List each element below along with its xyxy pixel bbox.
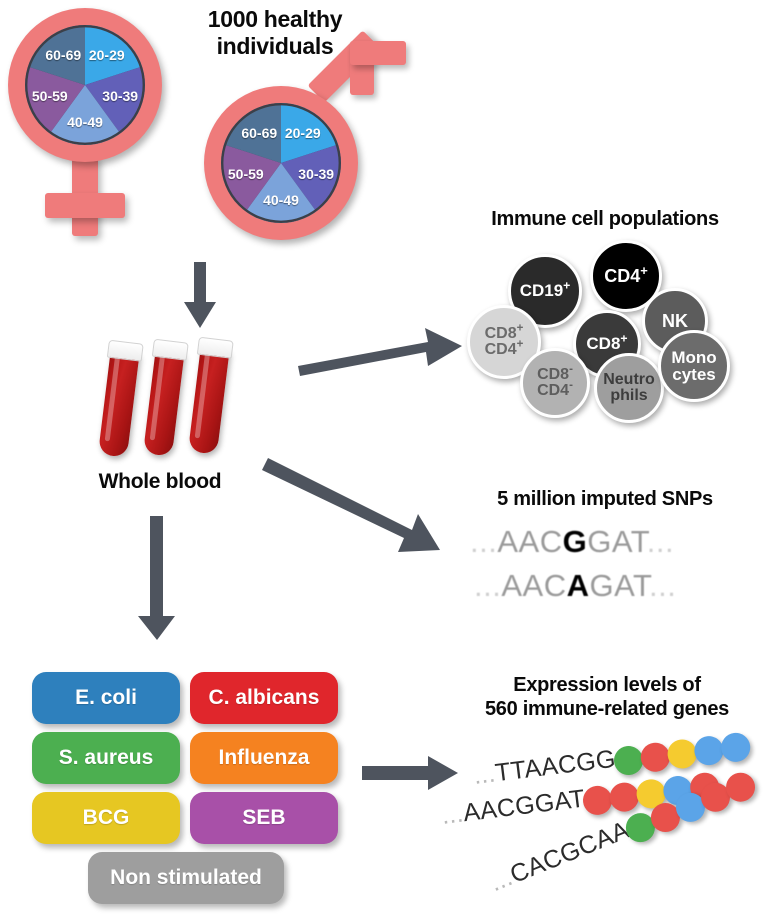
snp-variant-base: G <box>563 524 588 559</box>
snp-bases-after: GAT <box>589 568 649 603</box>
male-symbol-arrowhead-side <box>350 41 406 65</box>
immune-cell-label: CD8-CD4- <box>537 367 573 400</box>
gene-strand-group: ...TTAACGG...AACGGAT...CACGCAA <box>440 740 771 920</box>
snp-bases-before: AAC <box>501 568 566 603</box>
female-age-pie: 20-2930-3940-4950-5960-69 <box>25 25 145 145</box>
stimulus-label: BCG <box>83 806 130 830</box>
male-age-pie-slices <box>221 103 341 223</box>
immune-cell-label: CD8+CD4+ <box>485 326 524 359</box>
female-symbol-crossbar <box>45 193 125 218</box>
whole-blood-label: Whole blood <box>55 470 265 495</box>
gene-strand-ellipsis: ... <box>440 799 465 829</box>
immune-cell-nk: NK <box>642 288 708 354</box>
stimulus-label: C. albicans <box>209 686 320 710</box>
gene-strand-bead <box>608 781 640 813</box>
stimulus-pill[interactable]: BCG <box>32 792 180 844</box>
immune-cell-label: CD8+ <box>586 335 627 352</box>
arrow-blood-to-immune <box>296 320 466 380</box>
immune-cell-neutro: Neutrophils <box>594 353 664 423</box>
expression-title-line2: 560 immune-related genes <box>448 698 766 722</box>
immune-section-title: Immune cell populations <box>450 208 760 232</box>
stimulus-label: S. aureus <box>59 746 154 770</box>
stimulus-label: Influenza <box>218 746 309 770</box>
expression-title-line1: Expression levels of <box>448 674 766 698</box>
gene-strand-bead <box>639 741 671 773</box>
snp-bases-after: GAT <box>587 524 647 559</box>
snp-ellipsis-left: ... <box>474 568 501 603</box>
stimulus-pill[interactable]: E. coli <box>32 672 180 724</box>
immune-cell-cd8: CD8+ <box>573 310 641 378</box>
immune-cell-label: Neutrophils <box>603 372 655 405</box>
arrow-blood-to-snps <box>262 452 452 572</box>
snp-ellipsis-right: ... <box>647 524 674 559</box>
snp-ellipsis-right: ... <box>649 568 676 603</box>
immune-cell-cd4: CD4+ <box>590 240 662 312</box>
stimulus-pill[interactable]: Non stimulated <box>88 852 284 904</box>
gene-strand-bead <box>719 732 751 764</box>
immune-cell-cd19: CD19+ <box>508 254 582 328</box>
gene-strand-sequence: ...CACGCAA <box>486 816 633 897</box>
male-age-pie: 20-2930-3940-4950-5960-69 <box>221 103 341 223</box>
gene-strand-sequence: ...AACGGAT <box>440 785 587 830</box>
stimulus-pill[interactable]: S. aureus <box>32 732 180 784</box>
snp-variant-base: A <box>567 568 590 603</box>
arrow-individuals-to-blood <box>178 262 222 330</box>
snp-ellipsis-left: ... <box>470 524 497 559</box>
stimulus-pill[interactable]: C. albicans <box>190 672 338 724</box>
snp-bases-before: AAC <box>497 524 562 559</box>
immune-cell-cd8cd4pp: CD8+CD4+ <box>467 305 541 379</box>
stimulus-pill[interactable]: Influenza <box>190 732 338 784</box>
immune-cell-label: CD19+ <box>520 282 571 299</box>
expression-section-title: Expression levels of 560 immune-related … <box>448 674 766 721</box>
stimulus-label: SEB <box>242 806 285 830</box>
female-age-pie-slices <box>25 25 145 145</box>
gene-strand-ellipsis: ... <box>486 863 517 897</box>
immune-cell-cd8cd4mm: CD8-CD4- <box>520 348 590 418</box>
snp-sequence-row: ...AACGGAT... <box>470 524 674 560</box>
immune-cell-label: CD4+ <box>604 267 648 285</box>
immune-cell-label: Monocytes <box>671 349 716 384</box>
stimulus-label: E. coli <box>75 686 137 710</box>
immune-cell-label: NK <box>662 312 688 330</box>
diagram-canvas: 1000 healthy individuals 20-2930-3940-49… <box>0 0 771 922</box>
gene-strand-ellipsis: ... <box>472 759 497 789</box>
snp-sequence-block: ...AACGGAT......AACAGAT... <box>470 524 750 620</box>
gene-strand-bead <box>693 735 725 767</box>
stimulus-label: Non stimulated <box>110 866 262 890</box>
immune-cell-mono: Monocytes <box>658 330 730 402</box>
stimulus-pill[interactable]: SEB <box>190 792 338 844</box>
snp-sequence-row: ...AACAGAT... <box>474 568 676 604</box>
page-title-line1: 1000 healthy <box>170 6 380 33</box>
arrow-blood-to-stimuli <box>130 516 186 642</box>
stimuli-panel: E. coliC. albicansS. aureusInfluenzaBCGS… <box>32 672 342 900</box>
gene-strand-bead <box>666 738 698 770</box>
snps-section-title: 5 million imputed SNPs <box>450 488 760 512</box>
